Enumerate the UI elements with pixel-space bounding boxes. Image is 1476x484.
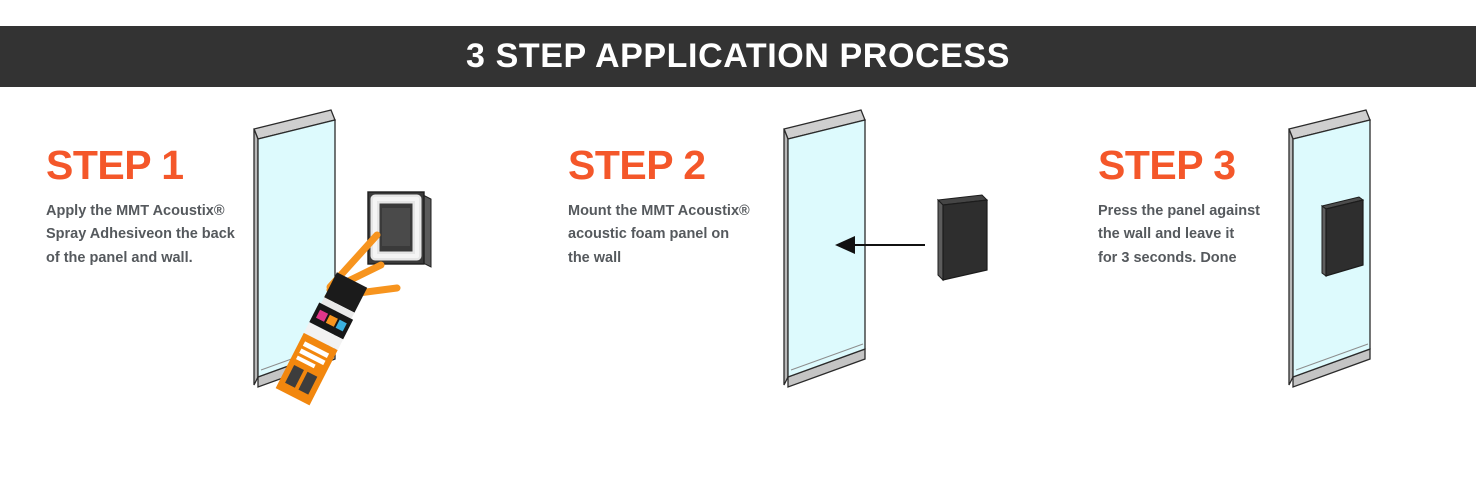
step-3-illustration: [1280, 87, 1476, 432]
step-2-line-2: acoustic foam panel on: [568, 226, 729, 242]
foam-panel-side: [938, 200, 943, 280]
step-3-line-2: the wall and leave it: [1098, 226, 1234, 242]
step-3-description: Press the panel against the wall and lea…: [1098, 200, 1303, 270]
step-1-line-3: of the panel and wall.: [46, 250, 193, 266]
steps-container: STEP 1 Apply the MMT Acoustix® Spray Adh…: [0, 87, 1476, 484]
mounted-panel-face: [1326, 200, 1363, 276]
step-1-line-1: Apply the MMT Acoustix®: [46, 203, 225, 219]
wall-with-mounted-panel-svg: [1280, 87, 1476, 427]
step-1-heading: STEP 1: [46, 145, 271, 186]
step-2-heading: STEP 2: [568, 145, 778, 186]
step-2-line-3: the wall: [568, 250, 621, 266]
foam-panel-center: [382, 208, 410, 246]
foam-panel-face: [943, 200, 987, 280]
step-2: STEP 2 Mount the MMT Acoustix® acoustic …: [500, 87, 1000, 484]
foam-panel-with-adhesive: [368, 192, 431, 267]
foam-panel: [938, 195, 987, 280]
step-3: STEP 3 Press the panel against the wall …: [1030, 87, 1476, 484]
step-2-text-block: STEP 2 Mount the MMT Acoustix® acoustic …: [568, 145, 778, 270]
wall-with-approaching-panel-svg: [775, 87, 1010, 427]
step-2-illustration: [775, 87, 1010, 432]
step-1-description: Apply the MMT Acoustix® Spray Adhesiveon…: [46, 200, 271, 270]
step-1-line-2: Spray Adhesiveon the back: [46, 226, 235, 242]
step-3-heading: STEP 3: [1098, 145, 1303, 186]
step-3-text-block: STEP 3 Press the panel against the wall …: [1098, 145, 1303, 270]
step-1-text-block: STEP 1 Apply the MMT Acoustix® Spray Adh…: [46, 145, 271, 270]
step-2-line-1: Mount the MMT Acoustix®: [568, 203, 750, 219]
step-1-illustration: [245, 87, 475, 432]
step-3-line-3: for 3 seconds. Done: [1098, 250, 1237, 266]
page-title: 3 STEP APPLICATION PROCESS: [466, 37, 1010, 76]
step-1: STEP 1 Apply the MMT Acoustix® Spray Adh…: [0, 87, 500, 484]
mounted-foam-panel: [1322, 197, 1363, 276]
step-3-line-1: Press the panel against: [1098, 203, 1260, 219]
wall-with-spray-can-svg: [245, 87, 475, 427]
header-bar: 3 STEP APPLICATION PROCESS: [0, 26, 1476, 87]
step-2-description: Mount the MMT Acoustix® acoustic foam pa…: [568, 200, 778, 270]
